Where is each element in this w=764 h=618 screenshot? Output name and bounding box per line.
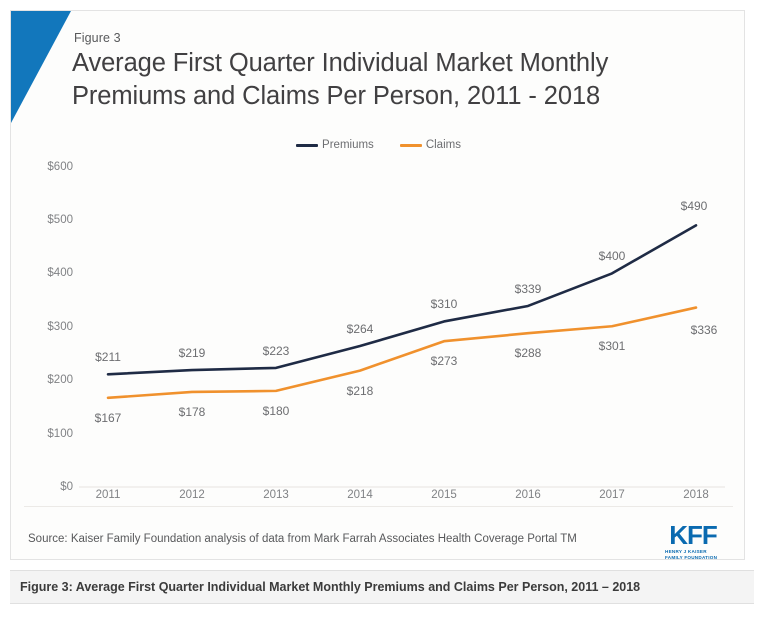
kff-logo: KFF HENRY J KAISER FAMILY FOUNDATION bbox=[656, 522, 730, 560]
x-axis-tick-label: 2018 bbox=[666, 489, 726, 501]
data-point-label: $178 bbox=[179, 405, 206, 419]
legend-swatch-premiums bbox=[296, 144, 318, 147]
kff-logo-subtitle: HENRY J KAISER FAMILY FOUNDATION bbox=[656, 549, 730, 560]
legend-swatch-claims bbox=[400, 144, 422, 147]
data-point-label: $288 bbox=[515, 346, 542, 360]
x-axis-tick-label: 2015 bbox=[414, 489, 474, 501]
data-point-label: $310 bbox=[431, 297, 458, 311]
data-point-label: $273 bbox=[431, 354, 458, 368]
y-axis-tick-label: $400 bbox=[27, 267, 73, 279]
y-axis-tick-label: $0 bbox=[27, 481, 73, 493]
x-axis-tick-label: 2016 bbox=[498, 489, 558, 501]
x-axis-tick-label: 2014 bbox=[330, 489, 390, 501]
y-axis-tick-label: $200 bbox=[27, 374, 73, 386]
y-axis-tick-label: $100 bbox=[27, 428, 73, 440]
x-axis-tick-label: 2013 bbox=[246, 489, 306, 501]
y-axis-tick-label: $600 bbox=[27, 161, 73, 173]
chart-legend: Premiums Claims bbox=[11, 139, 745, 151]
data-point-label: $211 bbox=[95, 350, 121, 364]
x-axis-tick-label: 2017 bbox=[582, 489, 642, 501]
footer-divider bbox=[24, 506, 733, 507]
data-point-label: $400 bbox=[599, 249, 626, 263]
figure-label: Figure 3 bbox=[74, 31, 121, 45]
x-axis-tick-label: 2011 bbox=[78, 489, 138, 501]
kff-logo-mark: KFF bbox=[656, 522, 730, 548]
legend-item-premiums[interactable]: Premiums bbox=[296, 139, 374, 151]
kff-logo-subtitle-line2: FAMILY FOUNDATION bbox=[665, 555, 730, 560]
data-point-label: $219 bbox=[179, 346, 206, 360]
data-point-label: $301 bbox=[599, 339, 626, 353]
x-axis-tick-label: 2012 bbox=[162, 489, 222, 501]
data-point-label: $180 bbox=[263, 404, 290, 418]
data-point-label: $264 bbox=[347, 322, 374, 336]
data-point-label: $490 bbox=[681, 199, 708, 213]
data-point-label: $339 bbox=[515, 282, 542, 296]
page-root: Figure 3 Average First Quarter Individua… bbox=[0, 0, 764, 618]
y-axis-tick-label: $300 bbox=[27, 321, 73, 333]
legend-item-claims[interactable]: Claims bbox=[400, 139, 461, 151]
data-point-label: $218 bbox=[347, 384, 374, 398]
data-point-label: $223 bbox=[263, 344, 290, 358]
figure-caption-text: Figure 3: Average First Quarter Individu… bbox=[10, 580, 640, 594]
legend-label-claims: Claims bbox=[426, 139, 461, 151]
chart-title: Average First Quarter Individual Market … bbox=[72, 47, 722, 113]
blue-corner-wedge-decoration bbox=[11, 11, 71, 123]
series-line-claims bbox=[108, 308, 696, 398]
y-axis-tick-label: $500 bbox=[27, 214, 73, 226]
figure-caption-bar: Figure 3: Average First Quarter Individu… bbox=[10, 570, 754, 604]
legend-label-premiums: Premiums bbox=[322, 139, 374, 151]
chart-card: Figure 3 Average First Quarter Individua… bbox=[10, 10, 745, 560]
data-point-label: $336 bbox=[691, 323, 718, 337]
data-point-label: $167 bbox=[95, 411, 122, 425]
series-line-premiums bbox=[108, 225, 696, 374]
source-note: Source: Kaiser Family Foundation analysi… bbox=[28, 533, 577, 545]
